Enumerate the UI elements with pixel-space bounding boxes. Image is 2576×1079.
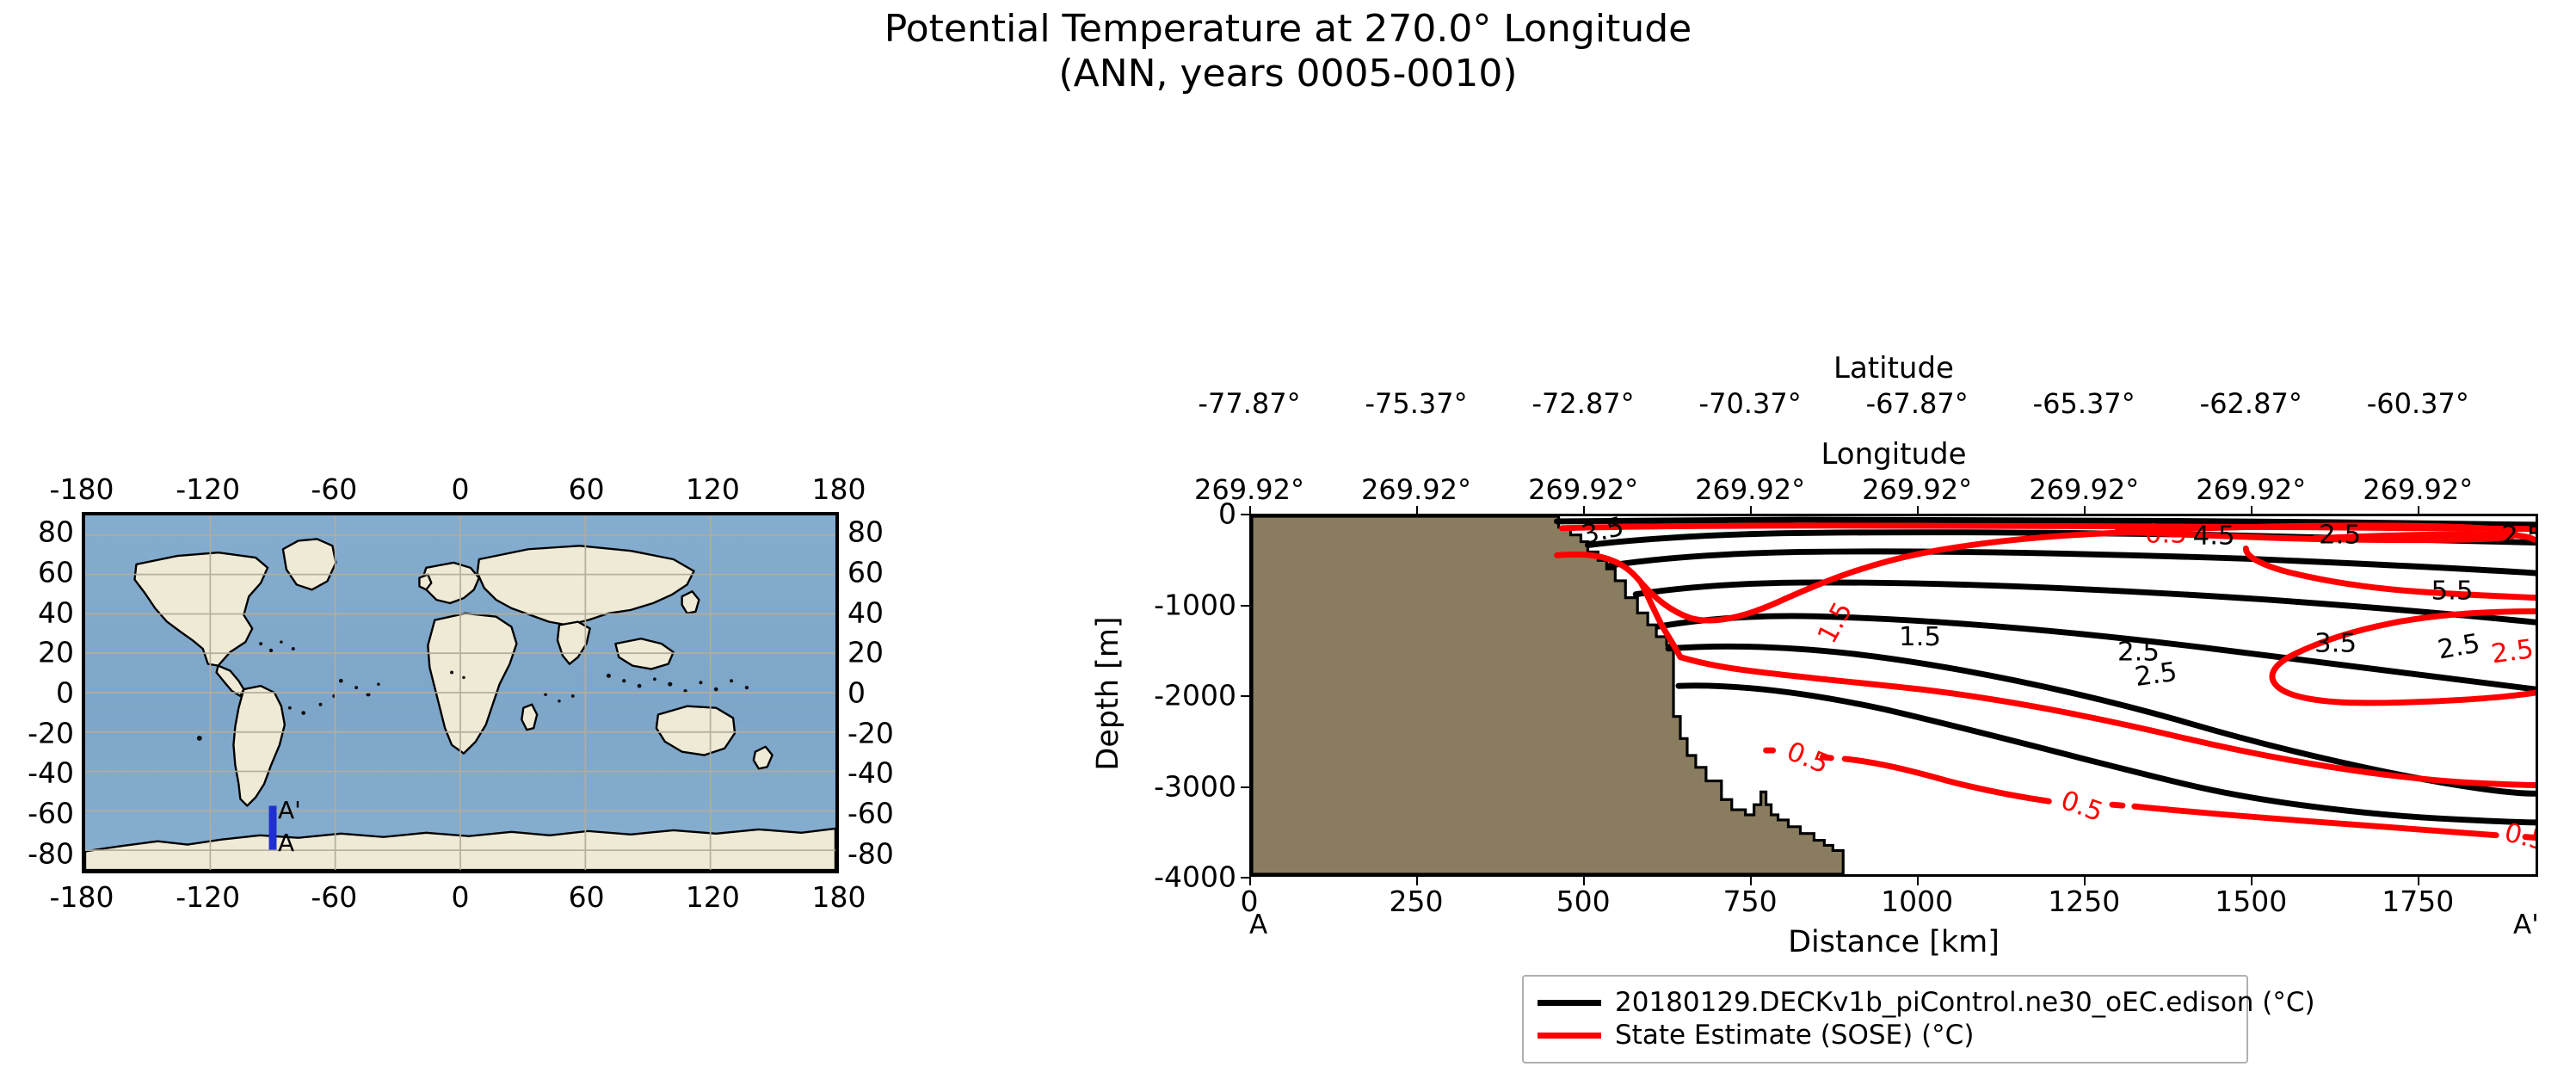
distance-tick: 0 bbox=[1241, 885, 1259, 918]
map-latitude-tick-right: -80 bbox=[847, 836, 894, 870]
map-latitude-tick-left: 40 bbox=[0, 595, 74, 629]
contour-label: 2.5 bbox=[2319, 520, 2361, 551]
map-longitude-tick: 60 bbox=[569, 880, 605, 914]
axis-tick-mark bbox=[1416, 877, 1418, 885]
map-longitude-tick: 120 bbox=[686, 880, 740, 914]
latitude-tick: -65.37° bbox=[2033, 387, 2135, 420]
map-longitude-tick: 0 bbox=[452, 472, 470, 506]
axis-tick-mark bbox=[1917, 877, 1919, 885]
map-longitude-tick: 60 bbox=[569, 472, 605, 506]
map-longitude-tick: -120 bbox=[176, 880, 240, 914]
map-frame bbox=[82, 512, 839, 873]
contour-label: 2.5 bbox=[2489, 633, 2536, 669]
axis-tick-mark bbox=[1583, 506, 1585, 515]
map-latitude-tick-left: 0 bbox=[0, 676, 74, 710]
latitude-tick: -62.87° bbox=[2200, 387, 2302, 420]
distance-tick: 1250 bbox=[2048, 885, 2120, 918]
contour-plot: 3.5 4.5 1.5 2.5 3.5 2.5 2.5 5.5 2.5 2.5 … bbox=[1252, 516, 2536, 874]
map-latitude-tick-left: 60 bbox=[0, 556, 74, 589]
figure-title: Potential Temperature at 270.0° Longitud… bbox=[0, 7, 2576, 96]
legend-entry-sose[interactable]: State Estimate (SOSE) (°C) bbox=[1538, 1019, 2233, 1051]
depth-tick: -2000 bbox=[1086, 679, 1236, 712]
map-latitude-tick-right: 0 bbox=[847, 676, 866, 710]
map-latitude-tick-right: 60 bbox=[847, 556, 884, 589]
contour-label: 0.5 bbox=[1782, 736, 1833, 780]
cross-section-panel: 3.5 4.5 1.5 2.5 3.5 2.5 2.5 5.5 2.5 2.5 … bbox=[1249, 514, 2538, 877]
contour-label: 4.5 bbox=[2193, 521, 2235, 552]
depth-tick: -4000 bbox=[1086, 860, 1236, 894]
contour-label: 1.5 bbox=[1811, 597, 1858, 649]
section-frame: 3.5 4.5 1.5 2.5 3.5 2.5 2.5 5.5 2.5 2.5 … bbox=[1249, 514, 2538, 877]
contour-label: 3.5 bbox=[1579, 516, 1627, 551]
longitude-tick: 269.92° bbox=[1361, 473, 1471, 506]
contour-label: 5.5 bbox=[2431, 576, 2473, 607]
depth-tick: -1000 bbox=[1086, 588, 1236, 621]
axis-tick-mark bbox=[1241, 605, 1249, 607]
world-map-panel bbox=[82, 512, 839, 873]
axis-tick-mark bbox=[1241, 786, 1249, 788]
transect-label-a-prime: A' bbox=[278, 796, 301, 824]
distance-tick: 1750 bbox=[2382, 885, 2454, 918]
axis-tick-mark bbox=[1583, 877, 1585, 885]
axis-tick-mark bbox=[2251, 877, 2252, 885]
axis-tick-mark bbox=[1750, 877, 1752, 885]
bathymetry-seafloor bbox=[1252, 516, 1843, 874]
map-latitude-tick-left: -80 bbox=[0, 836, 74, 870]
map-longitude-tick: 180 bbox=[812, 472, 866, 506]
top-axis-label-longitude: Longitude bbox=[1821, 437, 1966, 472]
world-map-image bbox=[85, 515, 835, 870]
contour-label: 2.5 bbox=[2436, 628, 2483, 666]
map-latitude-tick-right: 80 bbox=[847, 515, 884, 549]
longitude-tick: 269.92° bbox=[2363, 473, 2473, 506]
axis-tick-mark bbox=[2251, 506, 2252, 515]
map-latitude-tick-left: -40 bbox=[0, 756, 74, 790]
map-latitude-tick-left: 20 bbox=[0, 636, 74, 669]
figure-title-line-1: Potential Temperature at 270.0° Longitud… bbox=[884, 7, 1692, 51]
map-latitude-tick-right: -20 bbox=[847, 716, 894, 749]
map-latitude-tick-left: -60 bbox=[0, 797, 74, 830]
axis-tick-mark bbox=[1249, 877, 1251, 885]
depth-tick: -3000 bbox=[1086, 769, 1236, 803]
longitude-tick: 269.92° bbox=[1695, 473, 1805, 506]
legend-entry-model[interactable]: 20180129.DECKv1b_piControl.ne30_oEC.edis… bbox=[1538, 986, 2233, 1019]
distance-tick: 1500 bbox=[2215, 885, 2287, 918]
map-longitude-tick: 180 bbox=[812, 880, 866, 914]
legend-swatch-sose bbox=[1538, 1033, 1601, 1039]
axis-tick-mark bbox=[1241, 877, 1249, 879]
contour-label: 0.5 bbox=[2145, 519, 2187, 550]
map-latitude-tick-left: 80 bbox=[0, 515, 74, 549]
map-latitude-tick-right: 40 bbox=[847, 595, 884, 629]
distance-tick: 1000 bbox=[1881, 885, 1953, 918]
legend: 20180129.DECKv1b_piControl.ne30_oEC.edis… bbox=[1522, 975, 2248, 1064]
map-latitude-tick-right: 20 bbox=[847, 636, 884, 669]
contour-label: 1.5 bbox=[1899, 621, 1941, 652]
distance-tick: 250 bbox=[1390, 885, 1444, 918]
longitude-tick: 269.92° bbox=[1862, 473, 1972, 506]
axis-tick-mark bbox=[1416, 506, 1418, 515]
axis-tick-mark bbox=[1249, 506, 1251, 515]
latitude-tick: -60.37° bbox=[2367, 387, 2469, 420]
axis-tick-mark bbox=[2084, 506, 2086, 515]
contour-label: 2.5 bbox=[2501, 521, 2536, 552]
endpoint-a-prime: A' bbox=[2513, 909, 2539, 940]
axis-tick-mark bbox=[2418, 506, 2419, 515]
axis-tick-mark bbox=[2084, 877, 2086, 885]
contour-label: 0.5 bbox=[2056, 785, 2107, 828]
contour-label: 3.5 bbox=[2314, 628, 2357, 659]
map-longitude-tick: 120 bbox=[686, 472, 740, 506]
map-longitude-tick: -60 bbox=[311, 472, 357, 506]
sose-deep-contour bbox=[1766, 750, 2536, 838]
map-longitude-tick: 0 bbox=[452, 880, 470, 914]
map-latitude-tick-left: -20 bbox=[0, 716, 74, 749]
axis-tick-mark bbox=[1750, 506, 1752, 515]
axis-tick-mark bbox=[2418, 877, 2419, 885]
map-longitude-tick: -60 bbox=[311, 880, 357, 914]
top-axis-label-latitude: Latitude bbox=[1833, 351, 1954, 385]
map-longitude-tick: -120 bbox=[176, 472, 240, 506]
x-axis-label: Distance [km] bbox=[1788, 925, 2000, 959]
depth-tick: 0 bbox=[1086, 497, 1236, 531]
distance-tick: 750 bbox=[1723, 885, 1778, 918]
legend-label-model: 20180129.DECKv1b_piControl.ne30_oEC.edis… bbox=[1615, 987, 2315, 1018]
transect-label-a: A bbox=[278, 829, 294, 857]
distance-tick: 500 bbox=[1556, 885, 1611, 918]
latitude-tick: -77.87° bbox=[1198, 387, 1300, 420]
axis-tick-mark bbox=[1241, 514, 1249, 515]
latitude-tick: -75.37° bbox=[1365, 387, 1467, 420]
figure-title-line-2: (ANN, years 0005-0010) bbox=[0, 52, 2576, 96]
axis-tick-mark bbox=[1917, 506, 1919, 515]
map-latitude-tick-right: -60 bbox=[847, 797, 894, 830]
legend-label-sose: State Estimate (SOSE) (°C) bbox=[1615, 1020, 1974, 1051]
contour-label: 2.5 bbox=[2133, 657, 2179, 693]
map-longitude-tick: -180 bbox=[50, 472, 114, 506]
longitude-tick: 269.92° bbox=[2196, 473, 2306, 506]
legend-swatch-model bbox=[1538, 1000, 1601, 1006]
latitude-tick: -72.87° bbox=[1532, 387, 1635, 420]
axis-tick-mark bbox=[1241, 695, 1249, 697]
map-latitude-tick-right: -40 bbox=[847, 756, 894, 790]
latitude-tick: -67.87° bbox=[1866, 387, 1969, 420]
longitude-tick: 269.92° bbox=[2029, 473, 2139, 506]
latitude-tick: -70.37° bbox=[1699, 387, 1802, 420]
map-longitude-tick: -180 bbox=[50, 880, 114, 914]
longitude-tick: 269.92° bbox=[1528, 473, 1638, 506]
